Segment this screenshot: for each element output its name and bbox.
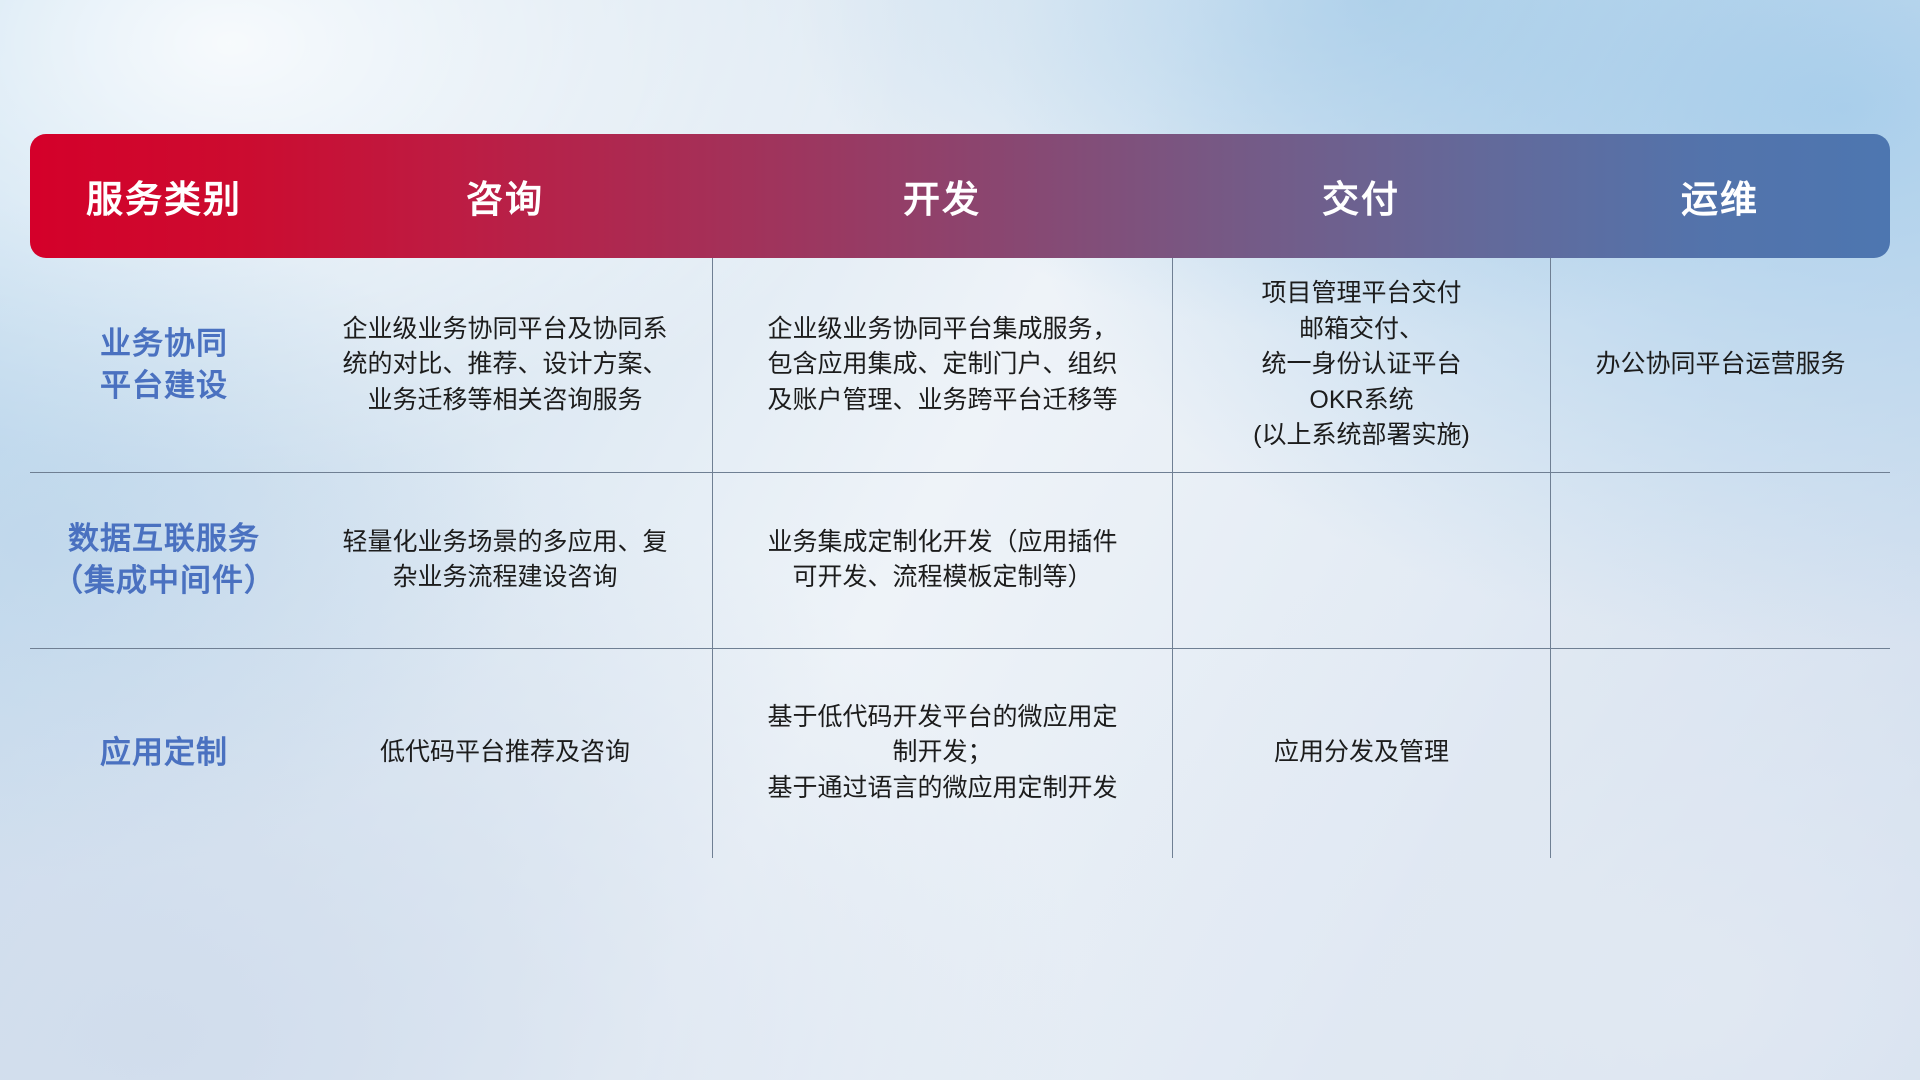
slide-canvas: 服务类别 咨询 开发 交付 运维	[0, 0, 1920, 1080]
table-body: 业务协同 平台建设 企业级业务协同平台及协同系 统的对比、推荐、设计方案、 业务…	[30, 258, 1890, 858]
table-header: 服务类别 咨询 开发 交付 运维	[30, 134, 1890, 258]
cell-deliver: 项目管理平台交付 邮箱交付、 统一身份认证平台 OKR系统 (以上系统部署实施)	[1172, 258, 1550, 472]
cell-consult: 企业级业务协同平台及协同系 统的对比、推荐、设计方案、 业务迁移等相关咨询服务	[298, 258, 712, 472]
table-row: 数据互联服务 （集成中间件） 轻量化业务场景的多应用、复 杂业务流程建设咨询 业…	[30, 472, 1890, 648]
header-label-category: 服务类别	[30, 169, 298, 223]
header-cell-consult: 咨询	[298, 134, 712, 258]
table-row: 应用定制 低代码平台推荐及咨询 基于低代码开发平台的微应用定 制开发； 基于通过…	[30, 648, 1890, 858]
row-category-label: 应用定制	[30, 648, 298, 858]
cell-consult: 低代码平台推荐及咨询	[298, 648, 712, 858]
header-label-dev: 开发	[712, 169, 1172, 223]
cell-dev: 基于低代码开发平台的微应用定 制开发； 基于通过语言的微应用定制开发	[712, 648, 1172, 858]
service-matrix-table: 服务类别 咨询 开发 交付 运维	[30, 134, 1890, 858]
cell-dev: 业务集成定制化开发（应用插件 可开发、流程模板定制等）	[712, 472, 1172, 648]
cell-ops: 办公协同平台运营服务	[1550, 258, 1890, 472]
cell-consult: 轻量化业务场景的多应用、复 杂业务流程建设咨询	[298, 472, 712, 648]
cell-ops	[1550, 472, 1890, 648]
cell-deliver	[1172, 472, 1550, 648]
cell-deliver: 应用分发及管理	[1172, 648, 1550, 858]
row-category-label: 数据互联服务 （集成中间件）	[30, 472, 298, 648]
header-label-consult: 咨询	[298, 169, 712, 223]
header-label-deliver: 交付	[1172, 169, 1550, 223]
table-header-row: 服务类别 咨询 开发 交付 运维	[30, 134, 1890, 258]
row-category-label: 业务协同 平台建设	[30, 258, 298, 472]
cell-dev: 企业级业务协同平台集成服务， 包含应用集成、定制门户、组织 及账户管理、业务跨平…	[712, 258, 1172, 472]
header-cell-ops: 运维	[1550, 134, 1890, 258]
header-cell-deliver: 交付	[1172, 134, 1550, 258]
header-cell-category: 服务类别	[30, 134, 298, 258]
table-row: 业务协同 平台建设 企业级业务协同平台及协同系 统的对比、推荐、设计方案、 业务…	[30, 258, 1890, 472]
header-label-ops: 运维	[1550, 169, 1890, 223]
service-matrix-table-wrapper: 服务类别 咨询 开发 交付 运维	[30, 134, 1890, 954]
header-cell-dev: 开发	[712, 134, 1172, 258]
cell-ops	[1550, 648, 1890, 858]
